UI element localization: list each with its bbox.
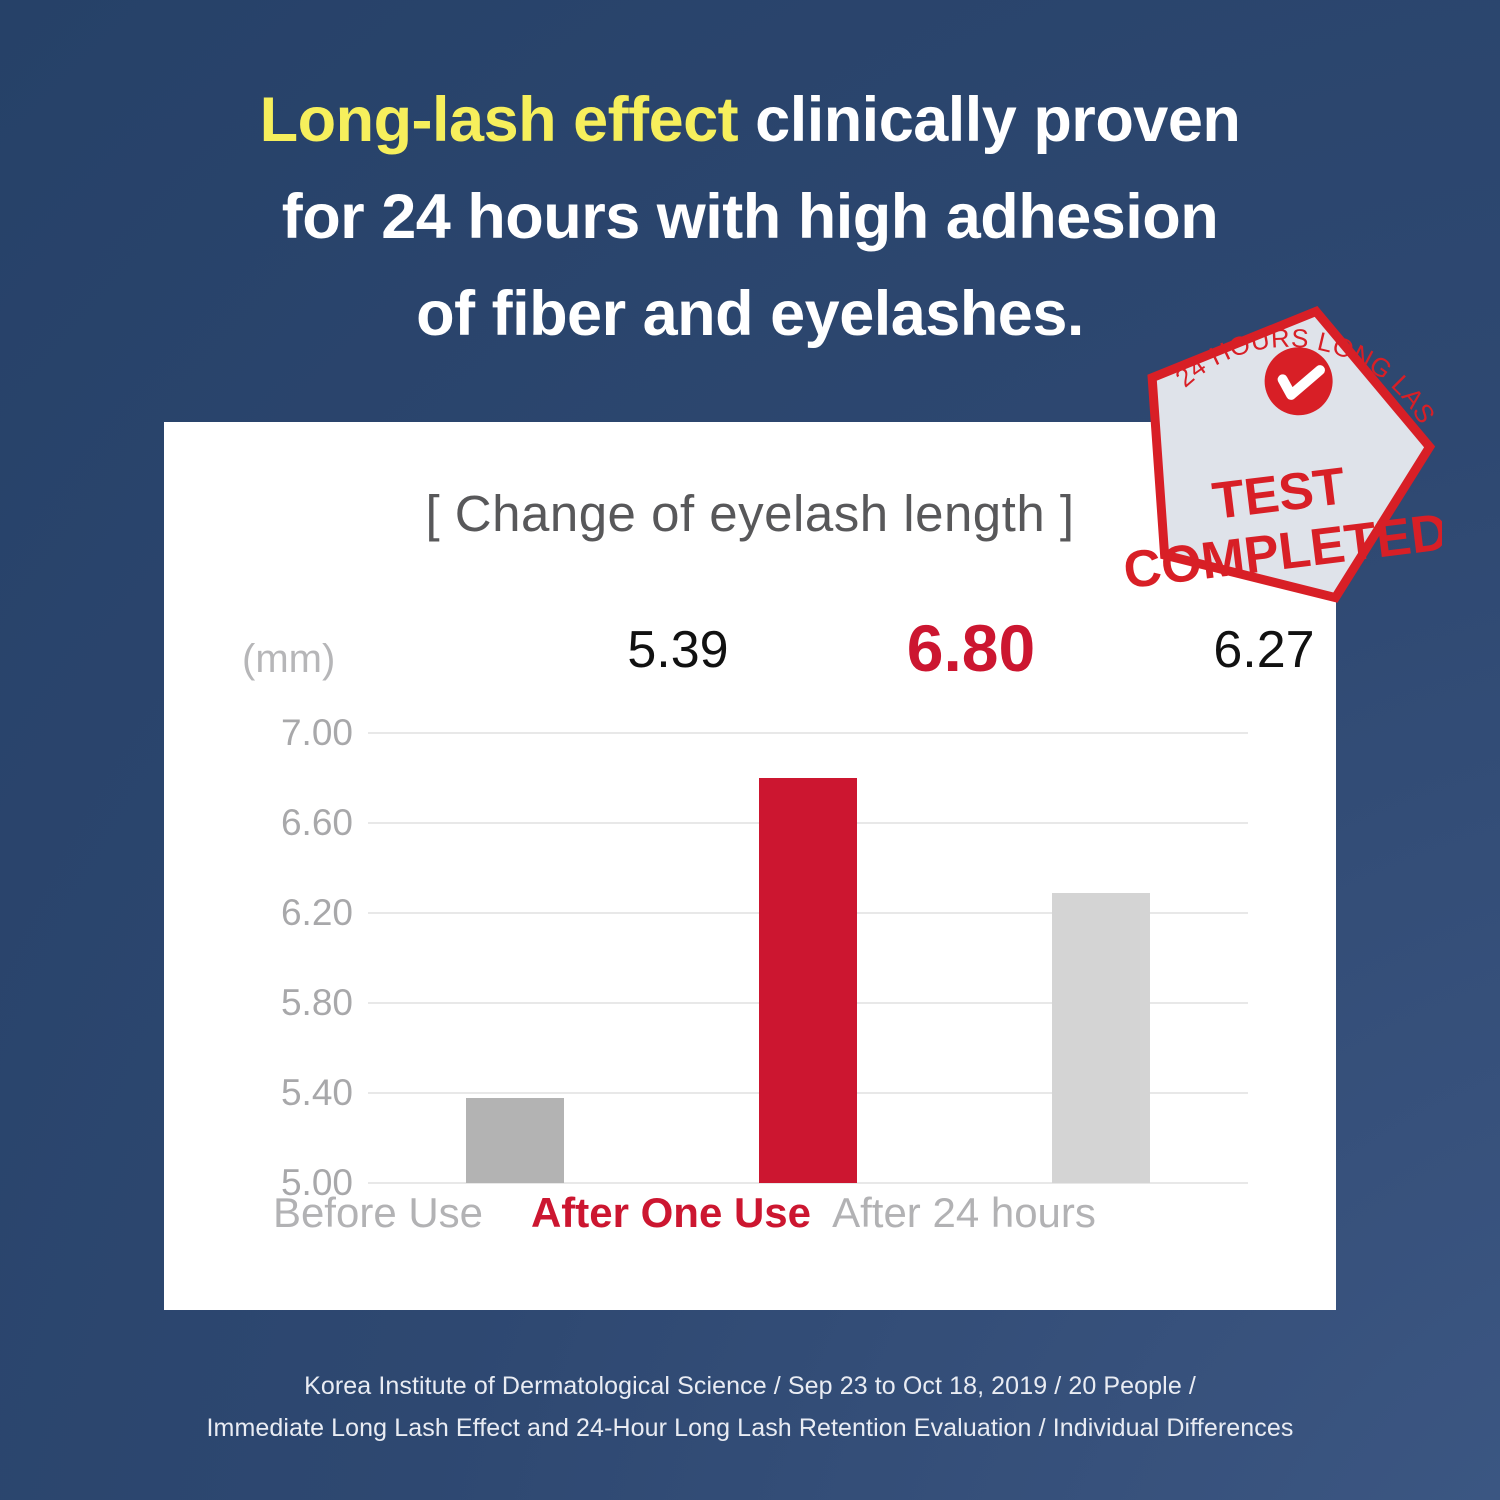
footnote-line-1: Korea Institute of Dermatological Scienc… [0, 1365, 1500, 1407]
bar-after-one-use [759, 778, 857, 1183]
promo-infographic: Long-lash effect clinically proven for 2… [0, 0, 1500, 1500]
headline-line-3: of fiber and eyelashes. [0, 266, 1500, 363]
bar-before-use [466, 1098, 564, 1184]
axis-unit-label: (mm) [242, 637, 335, 682]
study-footnote: Korea Institute of Dermatological Scienc… [0, 1365, 1500, 1449]
footnote-line-2: Immediate Long Lash Effect and 24-Hour L… [0, 1407, 1500, 1449]
bar-value-label-after-24-hours: 6.27 [1154, 620, 1374, 680]
bar-after-24-hours [1052, 893, 1150, 1183]
category-label-before-use: Before Use [228, 1189, 528, 1237]
bar-chart-plot-area: 7.006.606.205.805.405.00 [368, 733, 1248, 1183]
bar-value-label-after-one-use: 6.80 [861, 610, 1081, 686]
bar-value-label-before-use: 5.39 [568, 620, 788, 680]
y-axis-tick-label: 7.00 [213, 712, 353, 754]
chart-category-labels: Before Use After One Use After 24 hours [164, 1189, 1336, 1249]
headline-line-2: for 24 hours with high adhesion [0, 169, 1500, 266]
gridline [368, 732, 1248, 734]
headline-emphasis: Long-lash effect [260, 85, 739, 155]
chart-title: [ Change of eyelash length ] [164, 484, 1336, 543]
chart-card: [ Change of eyelash length ] (mm) 5.39 6… [164, 422, 1336, 1310]
category-label-after-24-hours: After 24 hours [814, 1189, 1114, 1237]
y-axis-tick-label: 6.60 [213, 802, 353, 844]
headline-line-1: Long-lash effect clinically proven [0, 72, 1500, 169]
y-axis-tick-label: 5.40 [213, 1072, 353, 1114]
y-axis-tick-label: 6.20 [213, 892, 353, 934]
page-title: Long-lash effect clinically proven for 2… [0, 72, 1500, 363]
y-axis-tick-label: 5.80 [213, 982, 353, 1024]
headline-line-1-rest: clinically proven [738, 85, 1240, 155]
category-label-after-one-use: After One Use [521, 1189, 821, 1237]
